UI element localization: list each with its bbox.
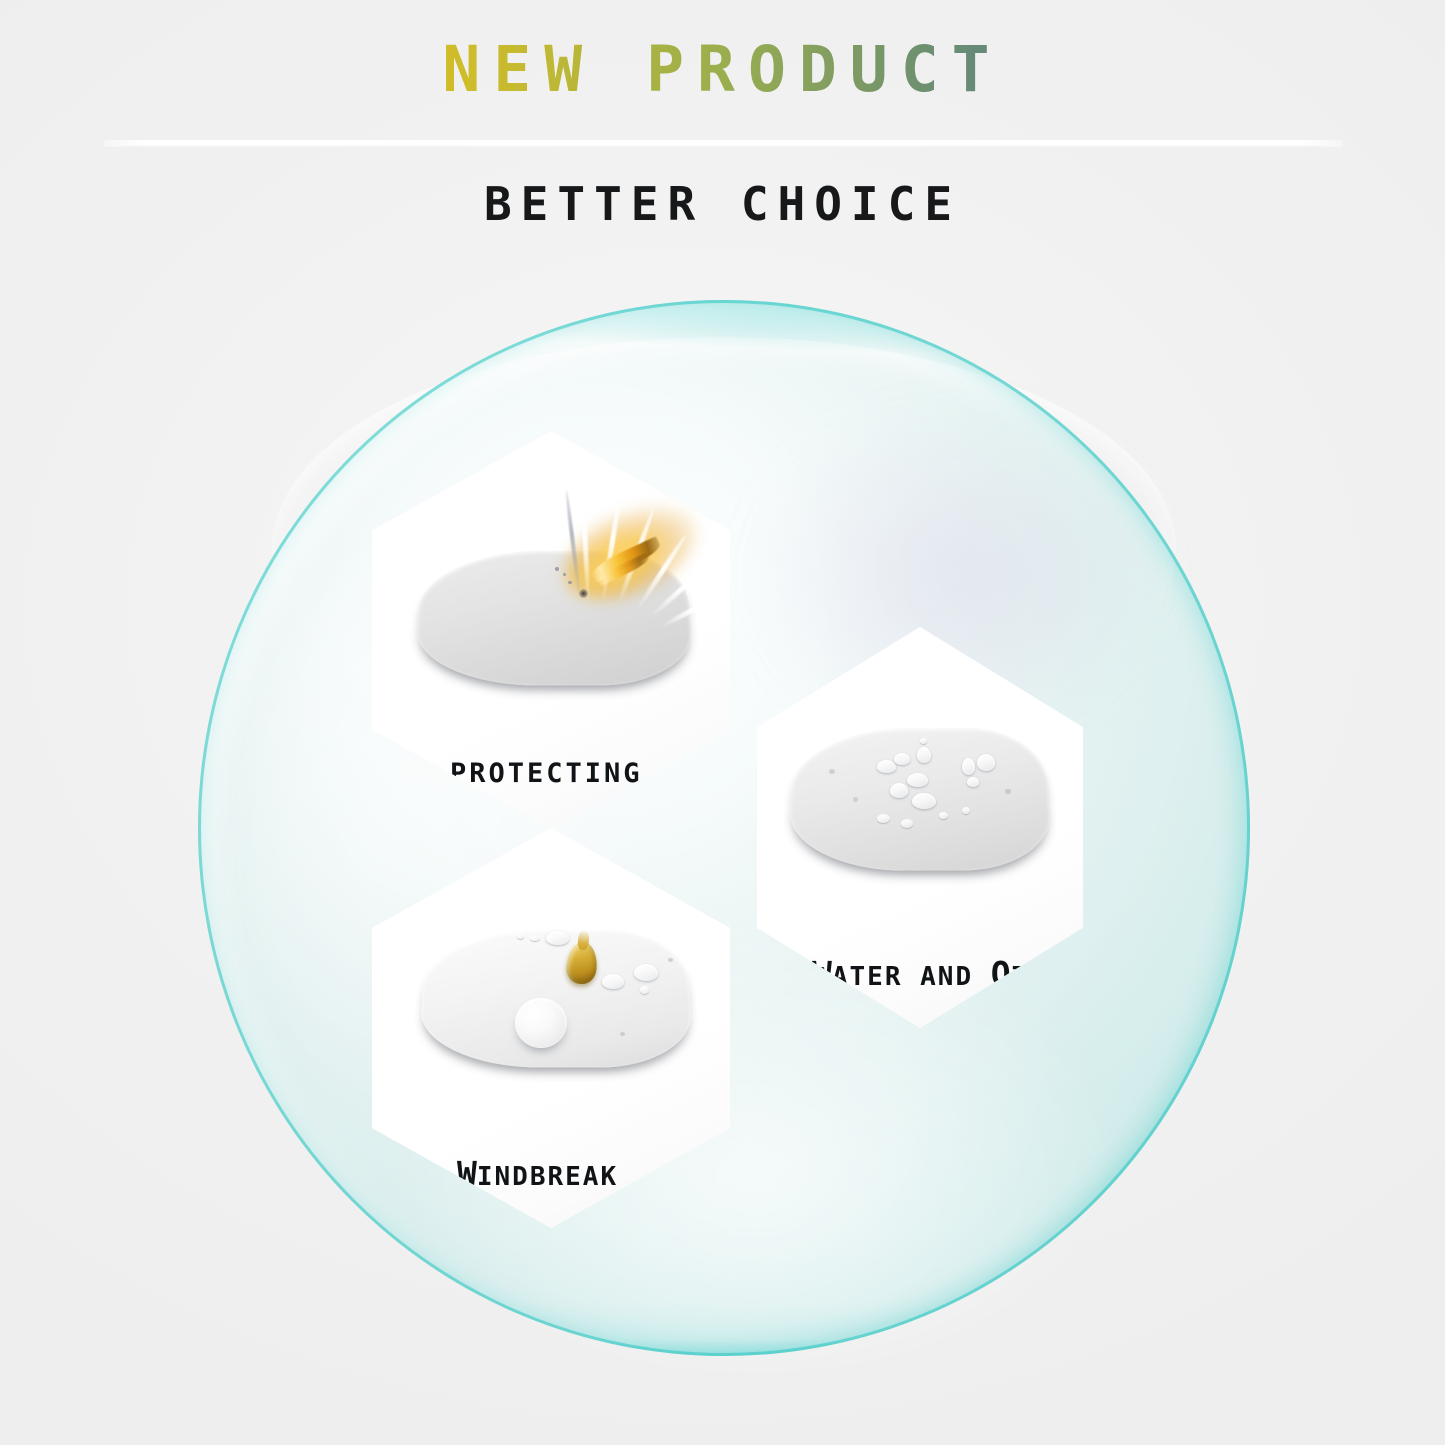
water-droplet-small (962, 807, 970, 814)
water-droplet (917, 747, 931, 763)
debris-dot (568, 581, 572, 584)
water-droplet (912, 793, 936, 809)
caption-o: O (991, 954, 1011, 993)
caption-line-2-rest: ROOF (832, 1045, 903, 1075)
feature-card-water-oil[interactable]: WATER AND OIL PROOF (757, 627, 1083, 1028)
caption-p: P (812, 1037, 832, 1076)
feature-caption-water-oil: WATER AND OIL PROOF (757, 913, 1083, 1079)
debris-dot (555, 567, 559, 571)
lens-shape (418, 930, 695, 1068)
water-droplet-small (939, 812, 948, 819)
water-bead-large (515, 998, 567, 1048)
caption-line-1-rest: ATER AND (832, 962, 991, 992)
water-droplet (877, 760, 896, 773)
water-droplet-small (640, 986, 649, 994)
water-droplet-small (668, 958, 673, 962)
caption-line-1-rest: INDBREAK (477, 1162, 618, 1192)
water-droplet-small (829, 769, 835, 774)
water-droplet-small (920, 738, 927, 744)
water-droplet-small (1005, 789, 1011, 794)
poster-canvas: NEW PRODUCT BETTER CHOICE (0, 0, 1445, 1445)
water-droplet (634, 964, 658, 981)
caption-line-2: SAND (457, 1243, 528, 1273)
water-droplet (602, 974, 624, 989)
water-droplet-small (517, 934, 524, 939)
water-droplet (967, 777, 979, 787)
water-droplet-small (877, 814, 890, 823)
impact-point (579, 589, 588, 598)
water-droplet (890, 783, 908, 798)
debris-dot (563, 573, 566, 576)
feature-card-shock[interactable]: PROTECTING AGAINST SHOCK (372, 431, 730, 829)
feature-card-windbreak[interactable]: WINDBREAK SAND (372, 828, 730, 1228)
feature-hexagon-group: WINDBREAK SAND (0, 0, 1445, 1445)
caption-line-1: PROTECTING (450, 758, 643, 789)
water-droplet (907, 773, 928, 787)
water-droplet (977, 754, 995, 771)
caption-line-1-tail: IL (1011, 962, 1046, 992)
water-droplet-small (901, 819, 913, 828)
water-droplet (546, 931, 569, 945)
caption-line-1: W (457, 1154, 477, 1193)
water-droplet (962, 758, 975, 775)
water-droplet-small (530, 936, 540, 941)
water-droplet (894, 753, 910, 765)
water-droplet-small (853, 797, 858, 802)
caption-w: W (812, 954, 832, 993)
water-droplet-small (620, 1032, 625, 1036)
feature-caption-windbreak: WINDBREAK SAND (372, 1113, 730, 1277)
